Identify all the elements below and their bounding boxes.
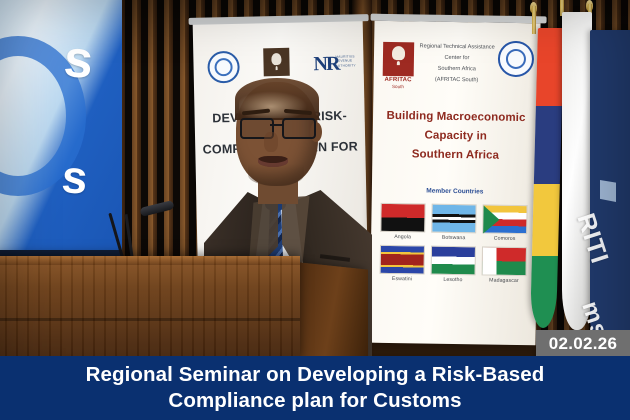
date-badge-text: 02.02.26 [549,334,618,354]
screen-word-1: s [61,29,96,91]
photo-screenshot: s s NR MAURITIUS REVENUE AUTHORITY SEMIN… [0,0,630,420]
afritac-subtitle-line-4: (AFRITAC South) [418,74,496,86]
mauritius-flag [530,28,564,328]
podium-seam [0,318,300,321]
eyeglass-bridge [270,124,282,126]
screen-word-2: s [60,149,91,205]
flag-icon-botswana [431,204,476,234]
flag-label: Lesotho [430,277,475,284]
eyeglass-lens-right [282,118,316,139]
afritac-headline: Building Macroeconomic Capacity in South… [378,107,533,166]
caption-bar: Regional Seminar on Developing a Risk-Ba… [0,356,630,420]
flag-label: Angola [380,234,425,241]
flag-label: Eswatini [379,276,424,283]
flag-icon-lesotho [431,246,476,276]
podium-wood-grain [0,256,300,360]
white-flag [562,12,592,330]
afritac-banner: AFRITAC South Regional Technical Assista… [369,21,540,346]
podium-side-panel [296,262,368,368]
afritac-subtitle-block: Regional Technical Assistance Center for… [418,41,497,86]
member-countries-label: Member Countries [372,187,538,197]
flag-icon-angola [380,203,425,233]
afritac-subtitle-line-1: Regional Technical Assistance [418,41,496,53]
eyeglasses [240,118,316,135]
member-flag-cell: Lesotho [430,246,476,284]
member-flags-grid: AngolaBotswanaComorosEswatiniLesothoMada… [379,203,530,284]
afritac-logo-icon [383,42,415,76]
flag-pole [532,6,536,34]
chin-shadow [248,164,304,186]
afritac-headline-line-1: Building Macroeconomic [379,107,533,128]
member-flag-cell: Botswana [431,204,477,242]
tree-icon [392,46,405,60]
flag-label: Botswana [431,235,476,242]
member-flag-cell: Eswatini [379,245,425,283]
afritac-logo-name: AFRITAC [383,77,414,83]
caption-line-1: Regional Seminar on Developing a Risk-Ba… [86,362,545,388]
wooden-podium [0,256,300,360]
member-flag-cell: Angola [380,203,426,241]
afritac-headline-line-2: Capacity in [379,126,533,147]
nose [264,132,278,152]
mauritius-customs-flag: RITI ms [590,30,630,356]
projection-screen: s s [0,0,122,258]
caption-line-2: Compliance plan for Customs [168,388,461,414]
flag-poles-group: RITI ms [520,0,630,356]
flag-icon-eswatini [380,245,425,275]
date-badge: 02.02.26 [536,330,630,357]
customs-flag-emblem-icon [600,180,616,202]
afritac-logo-sub: South [382,84,413,89]
afritac-headline-line-3: Southern Africa [378,145,532,166]
